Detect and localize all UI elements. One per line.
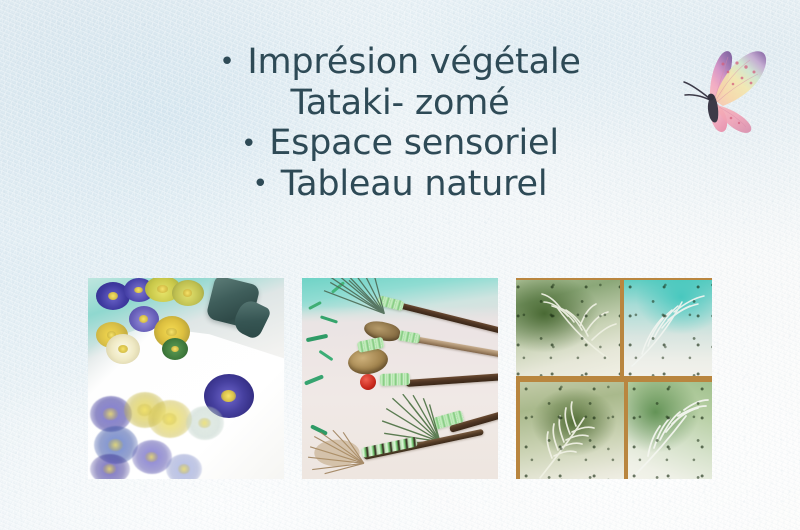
- bullet-item-4: • Tableau naturel: [0, 164, 800, 205]
- butterfly-icon: [676, 34, 780, 134]
- pine-needle-tuft: [312, 278, 388, 324]
- bullet-label-1: Imprésion végétale: [247, 42, 580, 82]
- bullet-marker-1: •: [219, 47, 236, 77]
- leaf-panel-bottom-left: [520, 382, 624, 479]
- photo-gallery: [88, 278, 712, 479]
- pansy-print: [166, 454, 202, 479]
- bullet-marker-4: •: [253, 169, 270, 199]
- spray-speckle: [516, 280, 620, 376]
- bullet-label-4: Tableau naturel: [281, 164, 548, 204]
- pansy-flower: [172, 280, 204, 306]
- leaf-panel-top-left: [516, 280, 620, 376]
- bullet-label-3: Espace sensoriel: [269, 123, 559, 163]
- leaf-panel-top-right: [624, 280, 712, 376]
- bullet-marker-3: •: [241, 129, 258, 159]
- natural-brushes-photo[interactable]: [302, 278, 498, 479]
- spray-speckle: [628, 382, 712, 479]
- pansy-hammer-photo[interactable]: [88, 278, 284, 479]
- pansy-flower: [106, 334, 140, 364]
- slide-canvas: • Imprésion végétale Tataki- zomé • Espa…: [0, 0, 800, 530]
- bullet-label-2: Tataki- zomé: [291, 83, 510, 123]
- spray-speckle: [624, 280, 712, 376]
- sprayed-leaf-panels-photo[interactable]: [516, 278, 712, 479]
- pansy-flower: [162, 338, 188, 360]
- leaf-panel-bottom-right: [628, 382, 712, 479]
- spray-speckle: [520, 382, 624, 479]
- pansy-print: [186, 406, 224, 440]
- red-bead: [360, 374, 376, 390]
- butterfly-head: [708, 94, 715, 101]
- brush-binding: [380, 373, 410, 386]
- pansy-print: [90, 454, 130, 479]
- feather-tuft: [306, 430, 368, 476]
- butterfly-antennae: [684, 82, 710, 100]
